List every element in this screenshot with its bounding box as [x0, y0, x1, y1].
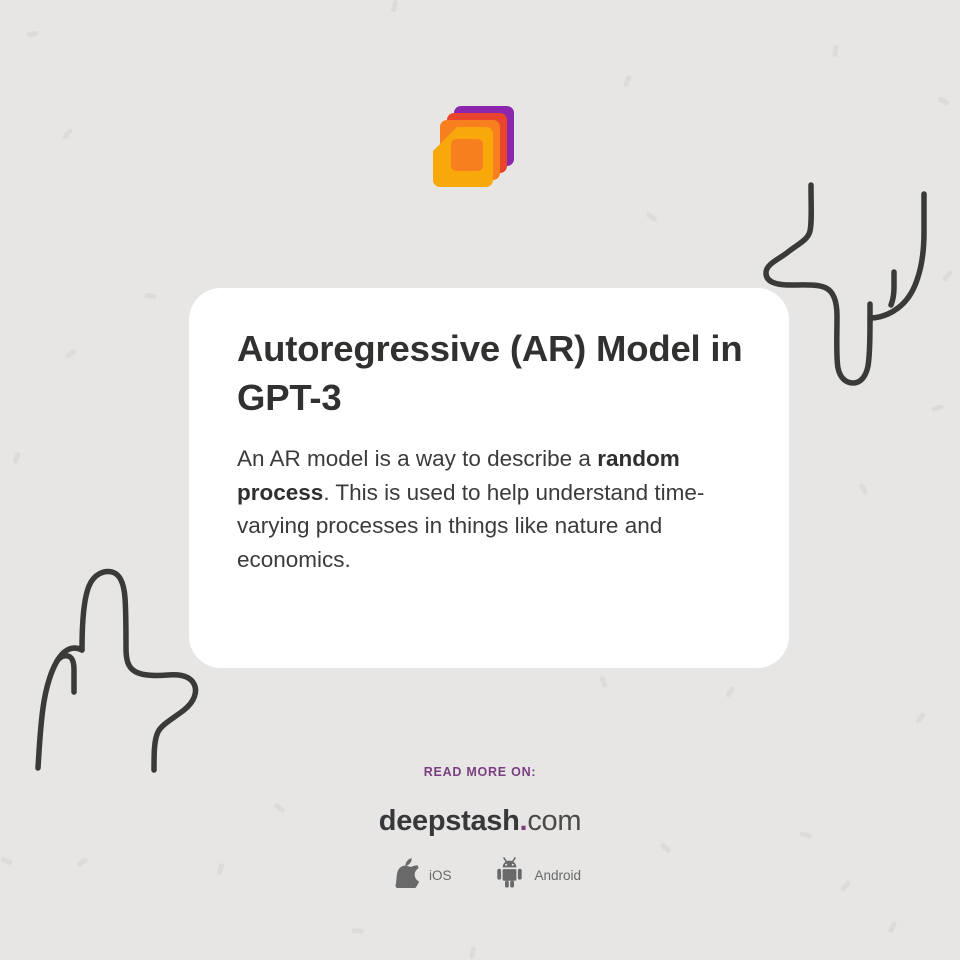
- confetti-speck: [623, 75, 632, 88]
- confetti-speck: [832, 45, 839, 58]
- confetti-speck: [391, 0, 399, 12]
- confetti-speck: [144, 292, 157, 299]
- confetti-speck: [725, 686, 736, 699]
- confetti-speck: [931, 404, 944, 412]
- apple-icon: [395, 858, 420, 893]
- ios-badge[interactable]: iOS: [395, 858, 452, 893]
- confetti-speck: [858, 483, 868, 496]
- confetti-speck: [62, 128, 74, 140]
- platform-badges: iOS: [0, 857, 960, 893]
- confetti-speck: [937, 96, 950, 106]
- card-title: Autoregressive (AR) Model in GPT-3: [237, 324, 743, 422]
- read-more-label: READ MORE ON:: [0, 765, 960, 779]
- confetti-speck: [12, 452, 21, 465]
- android-label: Android: [534, 868, 581, 883]
- confetti-speck: [469, 947, 476, 960]
- android-badge[interactable]: Android: [494, 857, 581, 893]
- ios-label: iOS: [429, 868, 452, 883]
- android-icon: [494, 857, 525, 893]
- confetti-speck: [645, 211, 658, 222]
- confetti-speck: [599, 676, 609, 689]
- confetti-speck: [915, 712, 926, 725]
- deepstash-wordmark[interactable]: deepstash.com: [0, 806, 960, 836]
- confetti-speck: [26, 31, 39, 38]
- confetti-speck: [64, 349, 77, 360]
- pointing-hand-left-illustration: [26, 562, 206, 784]
- deepstash-logo: [430, 103, 516, 195]
- confetti-speck: [888, 921, 898, 934]
- poster-canvas: Autoregressive (AR) Model in GPT-3 An AR…: [0, 0, 960, 960]
- wordmark-tld: com: [527, 805, 581, 837]
- wordmark-name: deepstash: [379, 805, 520, 837]
- card-body-lead: An AR model is a way to describe a: [237, 446, 597, 471]
- card-body: An AR model is a way to describe a rando…: [237, 442, 743, 576]
- idea-card: Autoregressive (AR) Model in GPT-3 An AR…: [189, 288, 789, 668]
- footer: READ MORE ON: deepstash.com iOS: [0, 765, 960, 893]
- confetti-speck: [351, 928, 363, 933]
